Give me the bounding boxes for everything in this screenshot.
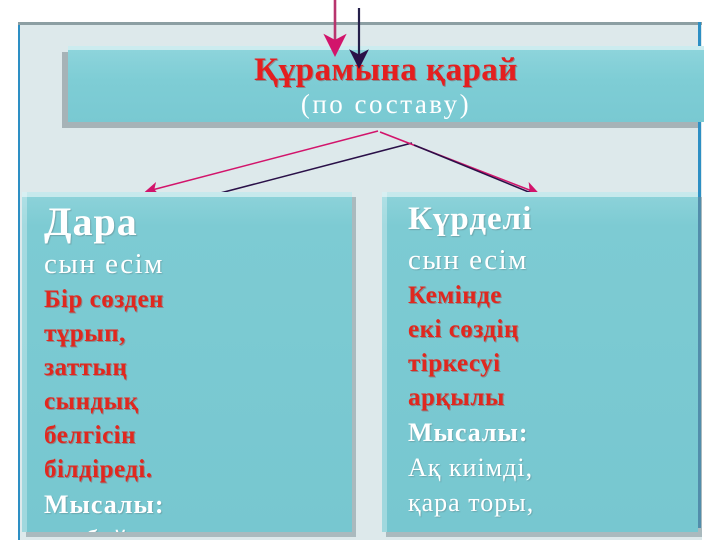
right-box-line-4: тіркесуі [408,347,692,381]
left-box-line-5: сындық [44,385,346,419]
left-box-line-4: заттың [44,351,346,385]
right-box-line-6: Мысалы: [408,415,692,450]
left-box-line-2: Бір сөзден [44,283,346,317]
slide-top-edge [18,22,702,25]
left-box-line-8: Мысалы: [44,487,346,522]
right-box-line-3: екі сөздің [408,313,692,347]
right-box-line-1: сын есім [408,241,692,279]
right-box-line-8: қара торы, [408,485,692,520]
right-box-line-0: Күрделі [408,198,692,241]
right-box-line-5: арқылы [408,381,692,415]
title-heading-russian: (по составу) [68,88,704,120]
slide-root: Құрамына қарай (по составу) [0,0,720,540]
left-box-text: Дарасын есімБір сөздентұрып,заттыңсындық… [22,198,352,532]
left-box-line-7: білдіреді. [44,453,346,487]
title-heading-kazakh: Құрамына қарай [68,52,704,88]
left-box-line-0: Дара [44,198,346,245]
left-box-line-1: сын есім [44,245,346,283]
left-box-line-9: ақ, бойшаң, [44,522,346,532]
right-box-text: Күрделісын есімКеміндеекі сөздіңтіркесуі… [382,198,698,532]
left-box-line-6: белгісін [44,419,346,453]
right-box-line-7: Ақ киімді, [408,450,692,485]
right-box-line-9: тап-таза, [408,520,692,532]
left-content-box: Дарасын есімБір сөздентұрып,заттыңсындық… [22,192,352,532]
right-box-line-2: Кемінде [408,279,692,313]
title-box: Құрамына қарай (по составу) [68,46,704,122]
left-box-line-3: тұрып, [44,317,346,351]
right-content-box: Күрделісын есімКеміндеекі сөздіңтіркесуі… [382,192,698,532]
